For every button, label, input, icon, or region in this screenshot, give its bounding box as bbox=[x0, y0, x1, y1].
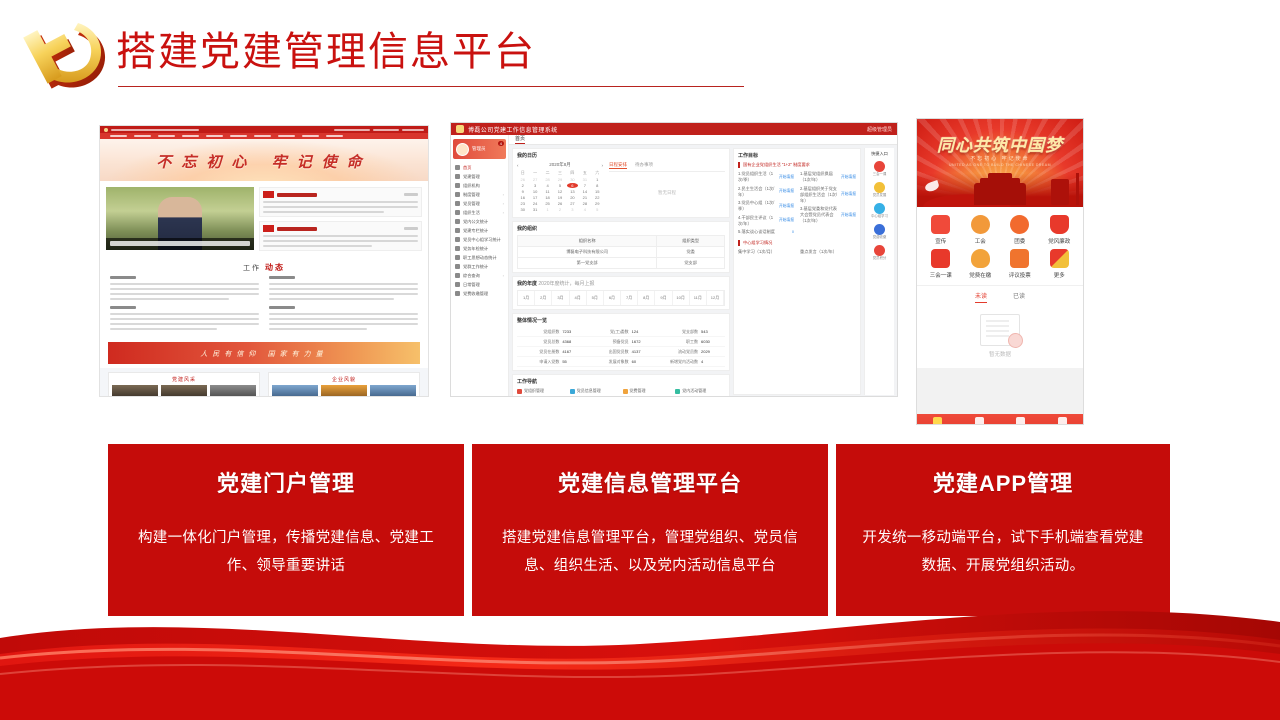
quick-entry-item[interactable]: 党费收缴 bbox=[865, 224, 894, 240]
workflow-item[interactable]: 党员信息管理 bbox=[570, 388, 620, 394]
stat-value: 4167 bbox=[562, 349, 584, 355]
sidebar-item-staff-stats[interactable]: 职工思想动态统计 bbox=[451, 253, 508, 262]
feature-card-description: 开发统一移动端平台，试下手机端查看党建数据、开展党组织活动。 bbox=[860, 524, 1146, 580]
sidebar-item-label: 首页 bbox=[463, 165, 471, 171]
screenshot-party-mobile-app: 同心共筑中国梦 不忘初心 牢记使命 UNITED AS ONE TO BUILD… bbox=[916, 118, 1084, 425]
calendar-day[interactable]: 28 bbox=[542, 177, 553, 182]
portal-col-heading bbox=[110, 306, 136, 309]
system-app-title: 博磊公司党建工作信息管理系统 bbox=[468, 125, 558, 134]
calendar-weekday: 五 bbox=[579, 170, 590, 176]
calendar-card-heading: 我的日历 bbox=[517, 152, 725, 159]
nav-item-home[interactable]: 首页 bbox=[917, 414, 959, 425]
portal-col-line[interactable] bbox=[269, 288, 418, 290]
stat-row: 党员在册数4167 bbox=[517, 347, 586, 357]
calendar-day[interactable]: 5 bbox=[592, 207, 603, 212]
calendar-day[interactable]: 21 bbox=[579, 195, 590, 200]
calendar-day[interactable]: 29 bbox=[554, 177, 565, 182]
feature-card-portal: 党建门户管理 构建一体化门户管理，传播党建信息、党建工作、领导重要讲话 bbox=[108, 444, 464, 616]
feature-card-title: 党建门户管理 bbox=[132, 466, 440, 498]
org-icon bbox=[975, 417, 984, 425]
app-bottom-nav: 首页 组织 学习 我的 bbox=[917, 414, 1083, 425]
portal-gallery-thumb[interactable] bbox=[210, 385, 256, 397]
sidebar-item-label: 党务年检统计 bbox=[463, 246, 488, 252]
portal-news-line[interactable] bbox=[263, 211, 384, 213]
feature-card-title: 党建APP管理 bbox=[860, 466, 1146, 498]
portal-col-line[interactable] bbox=[269, 328, 367, 330]
app-banner-subtitle-en: UNITED AS ONE TO BUILD THE CHINESE DREAM bbox=[917, 163, 1083, 167]
app-menu-item-vote[interactable]: 评议投票 bbox=[1000, 249, 1040, 279]
user-icon bbox=[1058, 417, 1067, 425]
table-cell: 博磊电子科技有限公司 bbox=[518, 247, 657, 258]
month-cell[interactable]: 7月 bbox=[621, 291, 638, 305]
task-fill-link[interactable]: 开始填报 bbox=[779, 175, 794, 180]
calendar-weekday: 三 bbox=[554, 170, 565, 176]
calendar-day[interactable]: 3 bbox=[567, 207, 578, 212]
calendar-day[interactable]: 1 bbox=[542, 207, 553, 212]
calendar-card: 我的日历 ‹ 2020年8月 › 日 bbox=[512, 148, 730, 218]
workflow-card: 工作导航 党组织管理 党员信息管理 党费管理 党内活动管理 bbox=[512, 374, 730, 397]
calendar-day[interactable]: 2 bbox=[554, 207, 565, 212]
sidebar-item-org[interactable]: 组织机构 bbox=[451, 181, 508, 190]
system-account-menu[interactable]: 超级管理员 bbox=[867, 126, 892, 133]
feature-card-description: 搭建党建信息管理平台，管理党组织、党员信息、组织生活、以及党内活动信息平台 bbox=[496, 524, 804, 580]
sidebar-item-policy[interactable]: 制度管理› bbox=[451, 190, 508, 199]
month-cell[interactable]: 2月 bbox=[535, 291, 552, 305]
system-user-name: 管理员 bbox=[472, 146, 486, 152]
chevron-right-icon: › bbox=[503, 273, 504, 278]
sidebar-item-doc-stats[interactable]: 党内公文统计 bbox=[451, 217, 508, 226]
portal-col-line[interactable] bbox=[110, 318, 259, 320]
calendar-day[interactable]: 30 bbox=[517, 207, 528, 212]
users-icon bbox=[455, 201, 460, 206]
chevron-right-icon: › bbox=[503, 201, 504, 206]
calendar-day[interactable]: 4 bbox=[579, 207, 590, 212]
portal-news-col bbox=[269, 276, 418, 333]
system-main: 首页 我的日历 ‹ 2020年8月 › bbox=[509, 135, 897, 397]
workflow-item[interactable]: 党内活动管理 bbox=[675, 388, 725, 394]
calendar-day[interactable]: 12 bbox=[554, 189, 565, 194]
task-fill-link[interactable]: 开始填报 bbox=[779, 189, 794, 194]
nav-item-study[interactable]: 学习 bbox=[1000, 414, 1042, 425]
system-right-column: 工作目标 国有企业党组织生活 "1+2" 制度要求 1.党员组织生活（1次/季）… bbox=[733, 148, 861, 395]
sidebar-item-org-life[interactable]: 组织生活› bbox=[451, 208, 508, 217]
stat-value: 6030 bbox=[701, 339, 723, 345]
task-bottom-row: 集中学习（1次/月） 重点发言（1次/年） bbox=[738, 249, 856, 255]
tab-read[interactable]: 已读 bbox=[1013, 291, 1025, 303]
task-row: 4.干部民主评议（1次/年）开始填报 bbox=[738, 215, 794, 227]
task-row: 3.党员中心组（1次/季）开始填报 bbox=[738, 200, 794, 212]
portal-col-line[interactable] bbox=[269, 298, 394, 300]
system-logo-icon bbox=[456, 125, 464, 133]
task-row: 5.落实谈心谈话制度0 bbox=[738, 229, 794, 235]
shield-icon bbox=[1050, 215, 1069, 234]
portal-gallery-thumb[interactable] bbox=[272, 385, 318, 397]
portal-gallery-thumb[interactable] bbox=[112, 385, 158, 397]
portal-col-line[interactable] bbox=[110, 283, 259, 285]
portal-gallery-left: 党建风采 bbox=[108, 372, 260, 397]
calendar-day[interactable]: 10 bbox=[529, 189, 540, 194]
table-cell: 党委 bbox=[657, 247, 725, 258]
calendar-next-icon[interactable]: › bbox=[601, 163, 603, 168]
sidebar-item-group-stats[interactable]: 党群工作统计 bbox=[451, 262, 508, 271]
chart-icon bbox=[455, 219, 460, 224]
pin-icon bbox=[455, 246, 460, 251]
portal-nav-item[interactable] bbox=[206, 135, 223, 137]
quick-entry-item[interactable]: 三会一课 bbox=[865, 161, 894, 177]
app-menu-label: 评议投票 bbox=[1000, 271, 1040, 279]
app-menu-item-propaganda[interactable]: 宣传 bbox=[921, 215, 961, 245]
portal-section-heading: 工作 动态 bbox=[100, 257, 428, 276]
app-empty-text: 暂无数据 bbox=[917, 350, 1083, 358]
app-menu-label: 党风廉政 bbox=[1040, 237, 1080, 245]
portal-col-line[interactable] bbox=[269, 318, 418, 320]
sidebar-item-party-mgmt[interactable]: 党建管理 bbox=[451, 172, 508, 181]
portal-nav-item[interactable] bbox=[278, 135, 295, 137]
stat-value: 60 bbox=[632, 359, 654, 365]
chevron-right-icon: › bbox=[503, 210, 504, 215]
quick-entry-item[interactable]: 党员发展 bbox=[865, 182, 894, 198]
feature-card-description: 构建一体化门户管理，传播党建信息、党建工作、领导重要讲话 bbox=[132, 524, 440, 580]
calendar-weekday: 一 bbox=[529, 170, 540, 176]
app-banner-title: 同心共筑中国梦 bbox=[917, 131, 1083, 156]
task-bottom-right: 重点发言（1次/年） bbox=[800, 249, 856, 255]
task-fill-link[interactable]: 开始填报 bbox=[841, 175, 856, 180]
system-content: 我的日历 ‹ 2020年8月 › 日 bbox=[509, 145, 897, 397]
stat-row: 职工数6030 bbox=[656, 337, 725, 347]
app-menu-label: 更多 bbox=[1040, 271, 1080, 279]
calendar-day[interactable]: 22 bbox=[592, 195, 603, 200]
task-columns: 1.党员组织生活（1次/季）开始填报 2.民主生活会（1次/年）开始填报 3.党… bbox=[738, 171, 856, 238]
task-subheading-1: 国有企业党组织生活 "1+2" 制度要求 bbox=[738, 162, 856, 168]
calendar-icon bbox=[455, 210, 460, 215]
calendar-day[interactable]: 26 bbox=[517, 177, 528, 182]
calendar-day[interactable]: 14 bbox=[579, 189, 590, 194]
portal-news-line[interactable] bbox=[263, 206, 418, 208]
tab-todo[interactable]: 待办事项 bbox=[635, 162, 653, 169]
stat-row: 党员总数4368 bbox=[517, 337, 586, 347]
portal-feature-row bbox=[100, 181, 428, 257]
portal-nav-item[interactable] bbox=[158, 135, 175, 137]
app-banner: 同心共筑中国梦 不忘初心 牢记使命 UNITED AS ONE TO BUILD… bbox=[917, 119, 1083, 207]
month-cell[interactable]: 8月 bbox=[638, 291, 655, 305]
task-row: 1.基层党组织换届（1次/年）开始填报 bbox=[800, 171, 856, 183]
stat-label: 党员在册数 bbox=[519, 349, 559, 355]
portal-col-line[interactable] bbox=[269, 283, 418, 285]
sidebar-item-dues[interactable]: 党费收缴管理 bbox=[451, 289, 508, 298]
calendar-month-label: 2020年8月 bbox=[549, 162, 571, 168]
tab-home[interactable]: 首页 bbox=[515, 135, 525, 144]
portal-news-block[interactable] bbox=[259, 187, 422, 217]
portal-col-line[interactable] bbox=[269, 313, 418, 315]
app-menu-label: 工会 bbox=[961, 237, 1001, 245]
month-cell[interactable]: 3月 bbox=[552, 291, 569, 305]
stat-row: 出国党员数4137 bbox=[586, 347, 655, 357]
portal-news-more[interactable] bbox=[404, 227, 418, 230]
portal-nav-item[interactable] bbox=[134, 135, 151, 137]
portal-video-thumbnail[interactable] bbox=[106, 187, 254, 250]
calendar-day[interactable]: 11 bbox=[542, 189, 553, 194]
note-icon bbox=[455, 282, 460, 287]
quick-entry-item[interactable]: 党员积分 bbox=[865, 245, 894, 261]
task-bottom-left: 集中学习（1次/月） bbox=[738, 249, 794, 255]
portal-nav-item[interactable] bbox=[302, 135, 319, 137]
calendar-day[interactable]: 8 bbox=[592, 183, 603, 188]
portal-gallery-grid bbox=[272, 385, 416, 397]
calendar-day[interactable]: 17 bbox=[529, 195, 540, 200]
tab-unread[interactable]: 未读 bbox=[975, 291, 987, 303]
star-badge-icon bbox=[1010, 215, 1029, 234]
portal-news-col bbox=[110, 276, 259, 333]
chart-icon bbox=[455, 228, 460, 233]
month-cell[interactable]: 11月 bbox=[690, 291, 707, 305]
workflow-heading: 工作导航 bbox=[517, 378, 725, 385]
portal-nav-item[interactable] bbox=[326, 135, 343, 137]
ballot-box-icon bbox=[1010, 249, 1029, 268]
task-label: 重点发言（1次/年） bbox=[800, 249, 837, 254]
sidebar-item-query[interactable]: 综合查询› bbox=[451, 271, 508, 280]
portal-section-heading-prefix: 工作 bbox=[243, 265, 261, 272]
app-empty-state: 暂无数据 bbox=[917, 306, 1083, 368]
task-label: 2.民主生活会（1次/年） bbox=[738, 186, 776, 198]
member-dev-icon bbox=[874, 182, 885, 193]
portal-gallery-thumb[interactable] bbox=[161, 385, 207, 397]
table-row[interactable]: 第一党支部党支部 bbox=[518, 258, 725, 269]
workflow-item[interactable]: 党费管理 bbox=[623, 388, 673, 394]
sidebar-item-label: 党建管理 bbox=[463, 174, 480, 180]
feature-card-platform: 党建信息管理平台 搭建党建信息管理平台，管理党组织、党员信息、组织生活、以及党内… bbox=[472, 444, 828, 616]
avatar bbox=[456, 143, 469, 156]
portal-col-line[interactable] bbox=[110, 328, 217, 330]
portal-news-header bbox=[263, 225, 418, 232]
portal-news-columns bbox=[100, 276, 428, 338]
portal-nav-item[interactable] bbox=[110, 135, 127, 137]
portal-nav-item[interactable] bbox=[230, 135, 247, 137]
calendar-day[interactable]: 3 bbox=[529, 183, 540, 188]
task-panel-heading: 工作目标 bbox=[738, 152, 856, 159]
task-row: 2.基层组织关于党支部组织生活会（1次/年）开始填报 bbox=[800, 186, 856, 204]
app-menu-label: 党费在缴 bbox=[961, 271, 1001, 279]
sidebar-item-label: 党群工作统计 bbox=[463, 264, 488, 270]
sidebar-item-label: 日常管理 bbox=[463, 282, 480, 288]
lecture-icon bbox=[931, 249, 950, 268]
portal-slogan-text: 人民有信仰 国家有力量 bbox=[108, 349, 420, 359]
sidebar-item-label: 党员管理 bbox=[463, 201, 480, 207]
sidebar-item-label: 制度管理 bbox=[463, 192, 480, 198]
calendar-day[interactable]: 13 bbox=[567, 189, 578, 194]
stats-grid: 党组织数7233 党员总数4368 党员在册数4167 申请入党数55 党(工)… bbox=[517, 327, 725, 367]
app-menu-item-integrity[interactable]: 党风廉政 bbox=[1040, 215, 1080, 245]
workflow-label: 党内活动管理 bbox=[682, 388, 706, 394]
table-header-cell: 组织名称 bbox=[518, 236, 657, 247]
month-cell[interactable]: 10月 bbox=[673, 291, 690, 305]
portal-col-line[interactable] bbox=[110, 293, 259, 295]
sidebar-item-annual-stats[interactable]: 党务年检统计 bbox=[451, 244, 508, 253]
year-card-title: 我的年度 bbox=[517, 281, 537, 287]
portal-col-line[interactable] bbox=[269, 293, 418, 295]
table-row: 组织名称组织类型 bbox=[518, 236, 725, 247]
calendar-day[interactable]: 1 bbox=[592, 177, 603, 182]
stat-label: 发展对象数 bbox=[588, 359, 628, 365]
sidebar-item-members[interactable]: 党员管理› bbox=[451, 199, 508, 208]
month-cell[interactable]: 5月 bbox=[587, 291, 604, 305]
portal-gallery-thumb[interactable] bbox=[370, 385, 416, 397]
app-message-tabs: 未读 已读 bbox=[917, 285, 1083, 306]
calendar-day[interactable]: 31 bbox=[579, 177, 590, 182]
app-menu-item-lecture[interactable]: 三会一课 bbox=[921, 249, 961, 279]
sidebar-item-label: 党员中心组学习统计 bbox=[463, 237, 501, 243]
portal-col-heading bbox=[110, 276, 136, 279]
app-menu-item-union[interactable]: 工会 bbox=[961, 215, 1001, 245]
workflow-label: 党费管理 bbox=[630, 388, 646, 394]
points-icon bbox=[874, 245, 885, 256]
portal-logo-icon bbox=[104, 128, 108, 132]
bottom-wave-decoration bbox=[0, 596, 1280, 720]
month-cell[interactable]: 4月 bbox=[570, 291, 587, 305]
calendar-day-today[interactable]: 6 bbox=[567, 183, 578, 188]
portal-topbar-link-1 bbox=[334, 129, 370, 131]
stat-row: 党(工)委数124 bbox=[586, 327, 655, 337]
stat-row: 发展对象数60 bbox=[586, 357, 655, 367]
slide-canvas: 搭建党建管理信息平台 不忘初心 牢记使命 bbox=[0, 0, 1280, 720]
calendar-day[interactable]: 25 bbox=[542, 201, 553, 206]
stat-row: 党组织数7233 bbox=[517, 327, 586, 337]
portal-col-line[interactable] bbox=[269, 323, 418, 325]
study-icon bbox=[874, 203, 885, 214]
feature-card-title: 党建信息管理平台 bbox=[496, 466, 804, 498]
portal-news-line[interactable] bbox=[263, 240, 418, 242]
task-fill-link[interactable]: 开始填报 bbox=[779, 218, 794, 223]
stats-card: 整体情况一览 党组织数7233 党员总数4368 党员在册数4167 申请入党数… bbox=[512, 313, 730, 371]
calendar-day[interactable]: 29 bbox=[592, 201, 603, 206]
sidebar-item-label: 组织机构 bbox=[463, 183, 480, 189]
nav-item-profile[interactable]: 我的 bbox=[1042, 414, 1084, 425]
list-icon bbox=[455, 174, 460, 179]
system-tabbar: 首页 bbox=[509, 135, 897, 145]
calendar-day[interactable]: 23 bbox=[517, 201, 528, 206]
workflow-items: 党组织管理 党员信息管理 党费管理 党内活动管理 bbox=[517, 388, 725, 394]
task-fill-link[interactable]: 开始填报 bbox=[779, 204, 794, 209]
sidebar-item-label: 党内公文统计 bbox=[463, 219, 488, 225]
app-menu-label: 三会一课 bbox=[921, 271, 961, 279]
calendar-day[interactable]: 2 bbox=[517, 183, 528, 188]
calendar-day[interactable]: 9 bbox=[517, 189, 528, 194]
stat-value: 4137 bbox=[632, 349, 654, 355]
stat-label: 预备党员 bbox=[588, 339, 628, 345]
title-underline bbox=[118, 86, 744, 87]
sidebar-item-home[interactable]: 首页 bbox=[451, 163, 508, 172]
sidebar-item-study-stats[interactable]: 党员中心组学习统计 bbox=[451, 235, 508, 244]
calendar-day[interactable]: 15 bbox=[592, 189, 603, 194]
quick-entry-label: 党员发展 bbox=[865, 194, 894, 198]
stat-label: 职工数 bbox=[658, 339, 698, 345]
task-fill-link[interactable]: 开始填报 bbox=[841, 192, 856, 197]
portal-nav-item[interactable] bbox=[254, 135, 271, 137]
calendar-day[interactable]: 31 bbox=[529, 207, 540, 212]
table-row[interactable]: 博磊电子科技有限公司党委 bbox=[518, 247, 725, 258]
portal-col-line[interactable] bbox=[110, 313, 259, 315]
year-card: 我的年度 2020年度统计，每月上报 1月2月 3月4月 5月6月 7月8月 9… bbox=[512, 276, 730, 310]
calendar-day[interactable]: 5 bbox=[554, 183, 565, 188]
calendar-day[interactable]: 19 bbox=[554, 195, 565, 200]
calendar-day[interactable]: 16 bbox=[517, 195, 528, 200]
stat-value: 124 bbox=[632, 329, 654, 335]
month-cell[interactable]: 6月 bbox=[604, 291, 621, 305]
stat-value: 4368 bbox=[562, 339, 584, 345]
search-icon bbox=[455, 273, 460, 278]
portal-news-line[interactable] bbox=[263, 245, 372, 247]
system-topbar: 博磊公司党建工作信息管理系统 超级管理员 bbox=[451, 123, 897, 135]
sidebar-item-daily[interactable]: 日常管理 bbox=[451, 280, 508, 289]
portal-news-line[interactable] bbox=[263, 235, 418, 237]
tab-schedule[interactable]: 日程安排 bbox=[609, 162, 627, 169]
calendar-grid: 日 一 二 三 四 五 六 2627282930311 2345678 bbox=[517, 170, 603, 212]
system-menu: 首页 党建管理 组织机构 制度管理› 党员管理› 组织生活› 党内公文统计 党建… bbox=[451, 161, 508, 300]
stat-value: 2029 bbox=[701, 349, 723, 355]
calendar-day[interactable]: 28 bbox=[579, 201, 590, 206]
stat-label: 党组织数 bbox=[519, 329, 559, 335]
task-label: 3.党员中心组（1次/季） bbox=[738, 200, 776, 212]
grid-more-icon bbox=[1050, 249, 1069, 268]
app-menu-item-youth-league[interactable]: 团委 bbox=[1000, 215, 1040, 245]
calendar-day[interactable]: 26 bbox=[554, 201, 565, 206]
portal-nav-item[interactable] bbox=[182, 135, 199, 137]
calendar-day[interactable]: 24 bbox=[529, 201, 540, 206]
sidebar-item-column-stats[interactable]: 党建专栏统计 bbox=[451, 226, 508, 235]
hand-coin-icon bbox=[971, 249, 990, 268]
calendar-day[interactable]: 4 bbox=[542, 183, 553, 188]
app-menu-item-dues[interactable]: 党费在缴 bbox=[961, 249, 1001, 279]
book-open-icon bbox=[1016, 417, 1025, 425]
stat-value: 4 bbox=[701, 359, 723, 365]
calendar-day[interactable]: 7 bbox=[579, 183, 590, 188]
calendar-day[interactable]: 27 bbox=[567, 201, 578, 206]
quick-entry-item[interactable]: 中心组学习 bbox=[865, 203, 894, 219]
home-icon bbox=[455, 165, 460, 170]
task-col-left: 1.党员组织生活（1次/季）开始填报 2.民主生活会（1次/年）开始填报 3.党… bbox=[738, 171, 794, 238]
portal-news-line[interactable] bbox=[263, 201, 418, 203]
calendar-day[interactable]: 18 bbox=[542, 195, 553, 200]
portal-col-line[interactable] bbox=[110, 288, 259, 290]
calendar-wrapper: ‹ 2020年8月 › 日 一 二 三 四 bbox=[517, 162, 725, 214]
system-user-card[interactable]: 管理员 4 bbox=[453, 139, 506, 159]
calendar-widget[interactable]: ‹ 2020年8月 › 日 一 二 三 四 bbox=[517, 162, 603, 214]
nav-item-org[interactable]: 组织 bbox=[959, 414, 1001, 425]
portal-col-line[interactable] bbox=[110, 298, 229, 300]
portal-gallery-row: 党建风采 企业风貌 bbox=[100, 368, 428, 397]
app-menu-item-more[interactable]: 更多 bbox=[1040, 249, 1080, 279]
stat-row: 申请入党数55 bbox=[517, 357, 586, 367]
portal-col-line[interactable] bbox=[110, 323, 259, 325]
workflow-item[interactable]: 党组织管理 bbox=[517, 388, 567, 394]
group-icon bbox=[455, 264, 460, 269]
task-panel: 工作目标 国有企业党组织生活 "1+2" 制度要求 1.党员组织生活（1次/季）… bbox=[733, 148, 861, 395]
task-fill-link[interactable]: 开始填报 bbox=[841, 213, 856, 218]
portal-news-more[interactable] bbox=[404, 193, 418, 196]
month-cell[interactable]: 9月 bbox=[655, 291, 672, 305]
portal-gallery-thumb[interactable] bbox=[321, 385, 367, 397]
portal-hero-banner: 不忘初心 牢记使命 bbox=[100, 139, 428, 181]
calendar-day[interactable]: 20 bbox=[567, 195, 578, 200]
month-cell[interactable]: 1月 bbox=[518, 291, 535, 305]
portal-news-block[interactable] bbox=[259, 221, 422, 251]
calendar-prev-icon[interactable]: ‹ bbox=[517, 163, 519, 168]
task-row: 3.基层党委和党代表大会暨党员代表会（1次/年）开始填报 bbox=[800, 206, 856, 224]
calendar-day[interactable]: 30 bbox=[567, 177, 578, 182]
month-cell[interactable]: 12月 bbox=[707, 291, 724, 305]
quick-entry-label: 三会一课 bbox=[865, 173, 894, 177]
calendar-weekday: 六 bbox=[592, 170, 603, 176]
calendar-day[interactable]: 27 bbox=[529, 177, 540, 182]
